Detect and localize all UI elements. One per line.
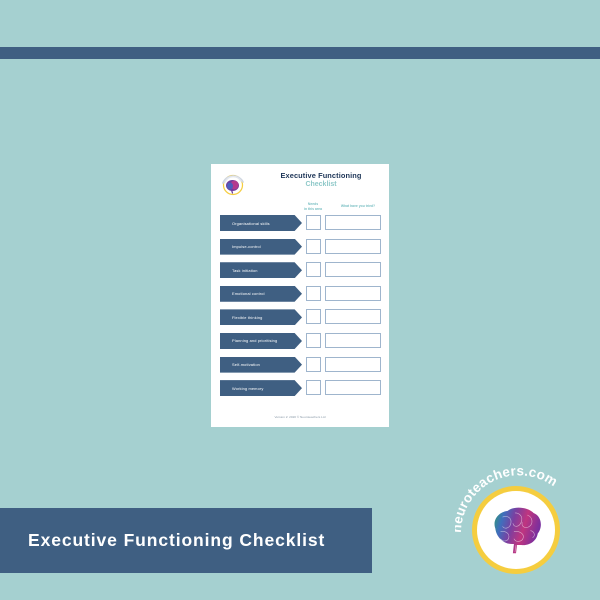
checklist-row: Emotional control <box>211 285 389 306</box>
checklist-row: Impulse-control <box>211 238 389 259</box>
checklist-row: Self-motivation <box>211 356 389 377</box>
checklist-row: Organisational skills <box>211 214 389 235</box>
brain-logo-icon <box>485 501 547 559</box>
document-title: Executive Functioning <box>259 172 383 180</box>
needs-checkbox[interactable] <box>306 239 321 254</box>
top-accent-stripe <box>0 47 600 59</box>
checklist-rows: Organisational skillsImpulse-controlTask… <box>211 214 389 403</box>
what-tried-input[interactable] <box>325 215 381 230</box>
row-banner: Organisational skills <box>220 215 302 231</box>
needs-checkbox[interactable] <box>306 309 321 324</box>
row-banner: Working memory <box>220 380 302 396</box>
needs-checkbox[interactable] <box>306 215 321 230</box>
row-banner: Emotional control <box>220 286 302 302</box>
brain-logo-icon <box>218 169 248 199</box>
document-title-block: Executive Functioning Checklist <box>259 172 383 191</box>
checklist-row: Flexible thinking <box>211 308 389 329</box>
needs-checkbox[interactable] <box>306 380 321 395</box>
what-tried-input[interactable] <box>325 239 381 254</box>
what-tried-input[interactable] <box>325 380 381 395</box>
checklist-row: Task initiation <box>211 261 389 282</box>
what-tried-input[interactable] <box>325 262 381 277</box>
needs-checkbox[interactable] <box>306 333 321 348</box>
row-banner: Self-motivation <box>220 357 302 373</box>
row-label: Emotional control <box>220 291 265 296</box>
what-tried-input[interactable] <box>325 309 381 324</box>
document-page[interactable]: Executive Functioning Checklist Needs in… <box>211 164 389 427</box>
checklist-row: Working memory <box>211 379 389 400</box>
row-banner: Planning and prioritising <box>220 333 302 349</box>
brand-badge[interactable] <box>472 486 560 574</box>
row-label: Planning and prioritising <box>220 338 277 343</box>
row-label: Impulse-control <box>220 244 261 249</box>
row-banner: Impulse-control <box>220 239 302 255</box>
row-banner: Flexible thinking <box>220 309 302 325</box>
what-tried-input[interactable] <box>325 357 381 372</box>
row-label: Self-motivation <box>220 362 260 367</box>
row-label: Working memory <box>220 386 263 391</box>
row-label: Organisational skills <box>220 221 270 226</box>
row-label: Flexible thinking <box>220 315 262 320</box>
needs-checkbox[interactable] <box>306 262 321 277</box>
row-label: Task initiation <box>220 268 258 273</box>
what-tried-input[interactable] <box>325 333 381 348</box>
document-subtitle: Checklist <box>259 180 383 191</box>
what-tried-input[interactable] <box>325 286 381 301</box>
caption-title: Executive Functioning Checklist <box>0 530 325 551</box>
column-header-needs-line2: in this area <box>300 207 326 212</box>
row-banner: Task initiation <box>220 262 302 278</box>
caption-bar: Executive Functioning Checklist <box>0 508 372 573</box>
document-footer: Version 2: 2020 © Neuroteachers Ltd <box>211 415 389 419</box>
needs-checkbox[interactable] <box>306 357 321 372</box>
column-header-tried: What have you tried? <box>331 204 385 209</box>
checklist-row: Planning and prioritising <box>211 332 389 353</box>
column-header-needs: Needs in this area <box>300 202 326 211</box>
document-header: Executive Functioning Checklist <box>211 164 389 202</box>
needs-checkbox[interactable] <box>306 286 321 301</box>
